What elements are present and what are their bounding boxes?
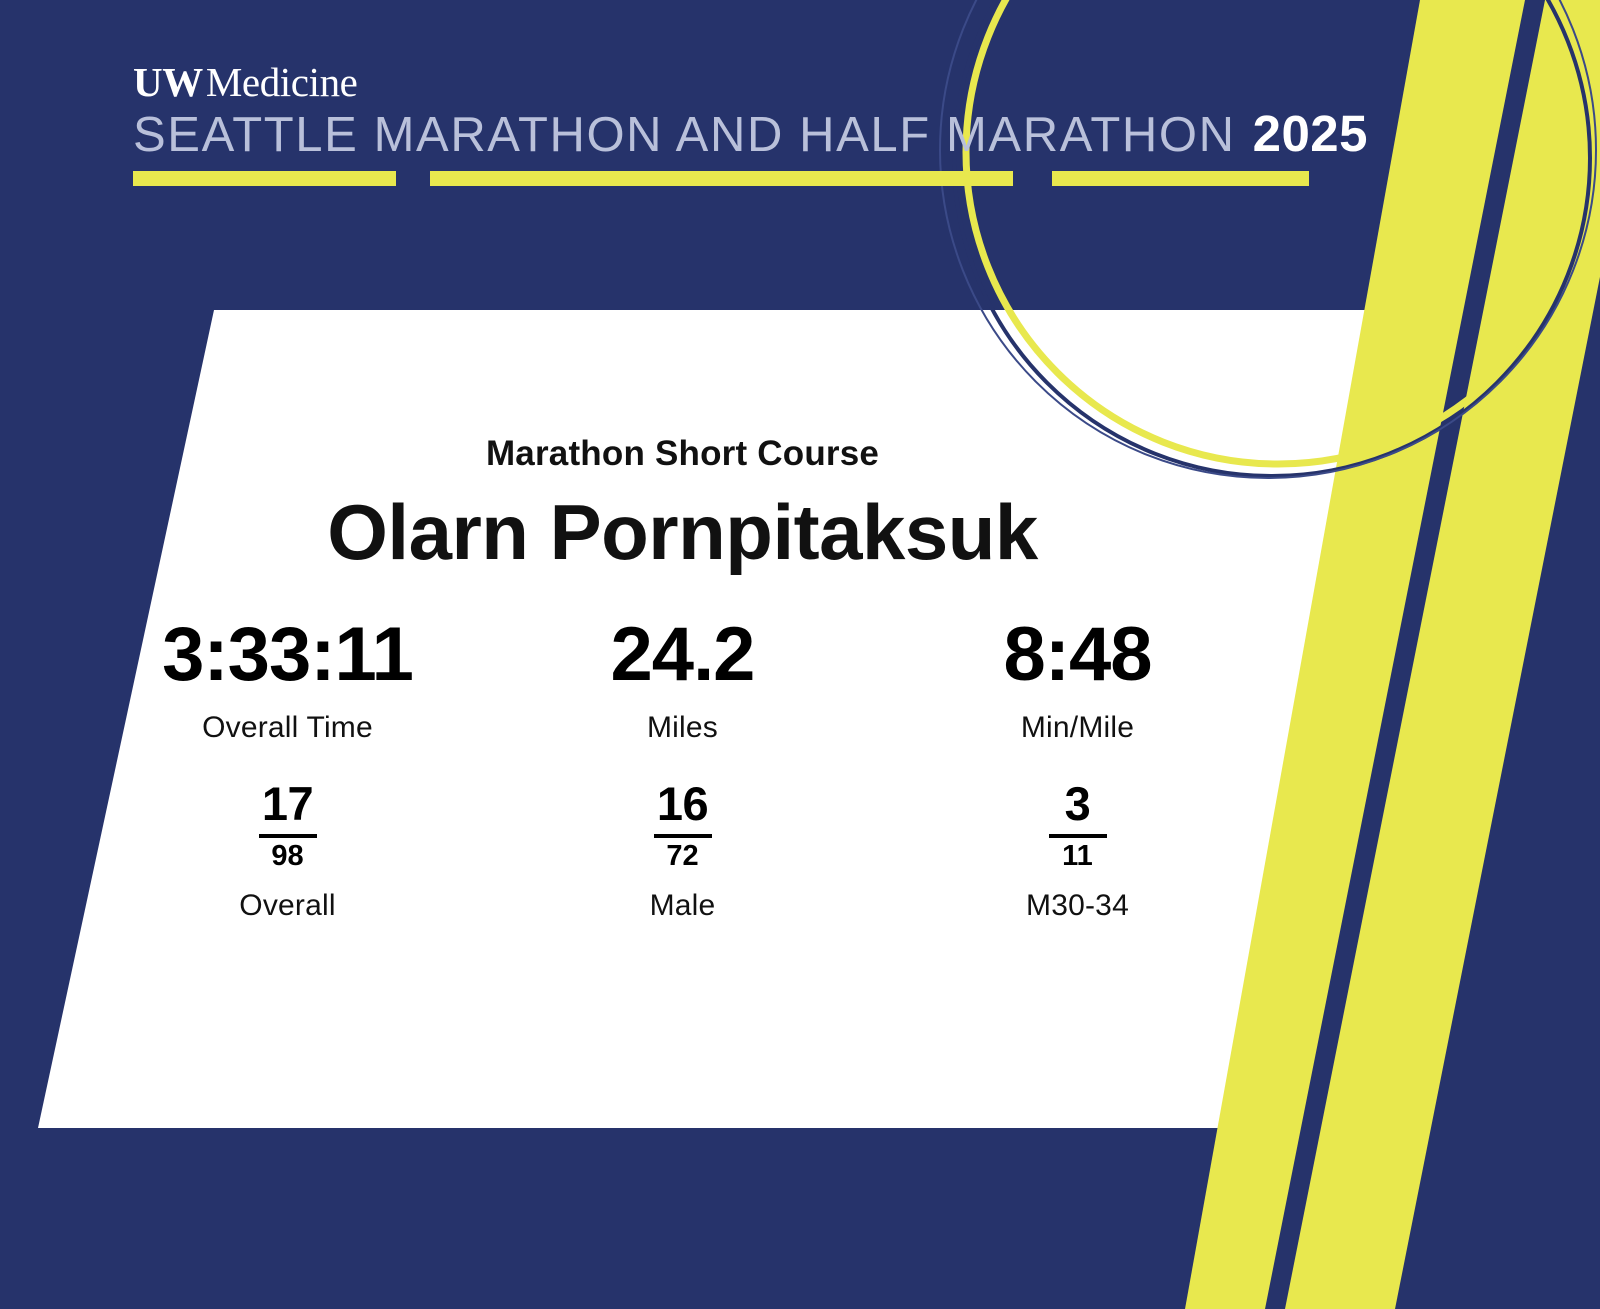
rank-total: 72 xyxy=(666,841,698,871)
event-year: 2025 xyxy=(1253,108,1368,159)
rank-stats-row: 17 98 Overall 16 72 Male 3 11 xyxy=(90,780,1275,923)
rank-age-group: 3 11 M30-34 xyxy=(880,780,1275,923)
rank-total: 11 xyxy=(1062,841,1093,871)
primary-stats-row: 3:33:11 Overall Time 24.2 Miles 8:48 Min… xyxy=(90,617,1275,745)
stat-min-per-mile: 8:48 Min/Mile xyxy=(880,617,1275,745)
header: UW Medicine SEATTLE MARATHON AND HALF MA… xyxy=(0,0,1600,310)
runner-name: Olarn Pornpitaksuk xyxy=(0,492,1365,574)
stat-value: 8:48 xyxy=(880,617,1275,693)
stat-overall-time: 3:33:11 Overall Time xyxy=(90,617,485,745)
stat-label: Min/Mile xyxy=(880,711,1275,745)
header-rule-2 xyxy=(430,171,1013,186)
event-title-line: SEATTLE MARATHON AND HALF MARATHON 2025 xyxy=(133,108,1368,160)
rank-place: 17 xyxy=(262,780,313,828)
fraction-bar xyxy=(654,834,712,838)
brand-prefix: UW xyxy=(133,59,203,105)
rank-label: M30-34 xyxy=(1026,889,1129,923)
stat-value: 3:33:11 xyxy=(90,617,485,693)
result-content: Marathon Short Course Olarn Pornpitaksuk… xyxy=(0,310,1365,1128)
stat-value: 24.2 xyxy=(485,617,880,693)
header-rule-3 xyxy=(1052,171,1309,186)
rank-fraction: 3 11 xyxy=(1049,780,1107,871)
fraction-bar xyxy=(1049,834,1107,838)
race-result-card: UW Medicine SEATTLE MARATHON AND HALF MA… xyxy=(0,0,1600,1309)
event-name: SEATTLE MARATHON AND HALF MARATHON xyxy=(133,111,1236,160)
rank-male: 16 72 Male xyxy=(485,780,880,923)
rank-label: Overall xyxy=(239,889,335,923)
stat-label: Overall Time xyxy=(90,711,485,745)
fraction-bar xyxy=(259,834,317,838)
course-label: Marathon Short Course xyxy=(0,434,1365,474)
uw-medicine-logo: UW Medicine xyxy=(133,58,357,106)
stat-miles: 24.2 Miles xyxy=(485,617,880,745)
rank-label: Male xyxy=(650,889,716,923)
rank-total: 98 xyxy=(271,841,303,871)
header-rule-1 xyxy=(133,171,396,186)
rank-fraction: 16 72 xyxy=(654,780,712,871)
rank-overall: 17 98 Overall xyxy=(90,780,485,923)
stat-label: Miles xyxy=(485,711,880,745)
rank-place: 16 xyxy=(657,780,708,828)
rank-place: 3 xyxy=(1065,780,1091,828)
rank-fraction: 17 98 xyxy=(259,780,317,871)
brand-suffix: Medicine xyxy=(206,59,358,105)
